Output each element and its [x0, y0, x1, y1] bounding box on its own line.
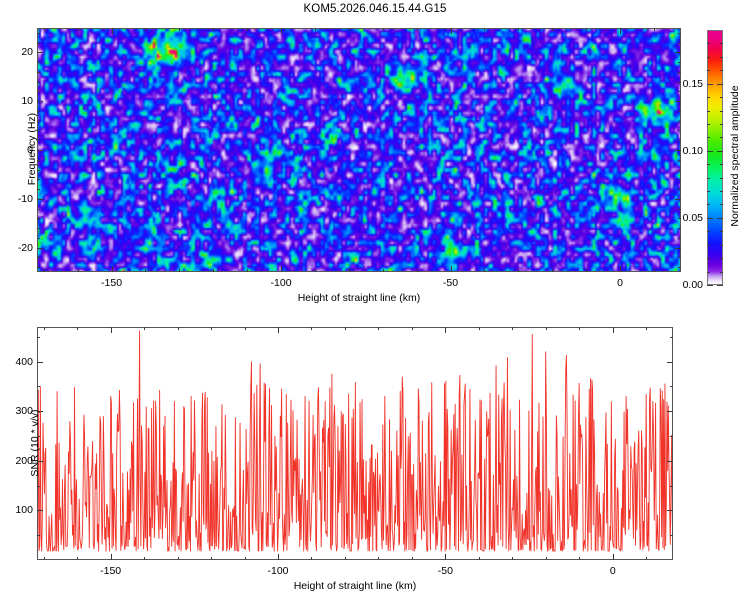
colorbar-tick — [707, 285, 713, 286]
colorbar-tick-minor — [707, 164, 710, 165]
x-tick-minor — [417, 269, 418, 272]
x-tick-minor-top — [315, 28, 316, 31]
y-tick-minor — [37, 43, 40, 44]
y-tick-minor-right — [678, 228, 681, 229]
colorbar-tick-minor-right — [720, 191, 723, 192]
x-tick-label: -50 — [443, 277, 458, 289]
x-tick-label: -100 — [271, 277, 292, 289]
y-tick-minor — [37, 91, 40, 92]
x-tick-major-top — [111, 327, 112, 333]
y-tick-minor-right — [670, 486, 673, 487]
colorbar-axis-title: Normalized spectral amplitude — [729, 71, 741, 241]
y-tick-minor-right — [678, 91, 681, 92]
x-tick-label: -150 — [100, 565, 121, 577]
y-tick-minor — [37, 257, 40, 258]
colorbar-tick-label: 0.05 — [671, 212, 703, 224]
x-tick-minor-top — [654, 28, 655, 31]
y-tick-major — [37, 510, 43, 511]
colorbar-tick-minor — [707, 70, 710, 71]
y-tick-label: 20 — [7, 46, 33, 58]
y-tick-minor — [37, 62, 40, 63]
x-tick-minor — [512, 557, 513, 560]
colorbar-tick-minor-right — [720, 258, 723, 259]
x-tick-minor — [213, 269, 214, 272]
x-tick-minor-top — [552, 28, 553, 31]
y-tick-label: 400 — [5, 356, 33, 368]
y-tick-minor-right — [678, 72, 681, 73]
x-tick-minor — [412, 557, 413, 560]
colorbar-tick-minor — [707, 272, 710, 273]
x-tick-major — [112, 266, 113, 272]
x-tick-minor — [378, 557, 379, 560]
colorbar-tick-minor — [707, 258, 710, 259]
colorbar-tick-minor-right — [720, 137, 723, 138]
snr-x-axis-title: Height of straight line (km) — [294, 580, 417, 592]
y-tick-minor-right — [670, 535, 673, 536]
x-tick-minor-top — [44, 28, 45, 31]
x-tick-minor-top — [586, 28, 587, 31]
colorbar-tick-minor-right — [720, 231, 723, 232]
x-tick-minor-top — [245, 327, 246, 330]
x-tick-minor — [586, 269, 587, 272]
colorbar-tick — [707, 84, 713, 85]
colorbar-tick-right — [717, 218, 723, 219]
y-tick-major-right — [667, 411, 673, 412]
x-tick-minor-top — [646, 327, 647, 330]
x-tick-major — [451, 266, 452, 272]
colorbar-tick — [707, 151, 713, 152]
x-tick-minor-top — [579, 327, 580, 330]
colorbar-tick-minor — [707, 43, 710, 44]
x-tick-minor — [77, 557, 78, 560]
x-tick-minor-top — [145, 28, 146, 31]
colorbar-tick-minor — [707, 178, 710, 179]
y-tick-major — [37, 248, 43, 249]
x-tick-minor-top — [383, 28, 384, 31]
colorbar-tick-minor — [707, 137, 710, 138]
x-tick-minor-top — [484, 28, 485, 31]
colorbar-tick-right — [717, 151, 723, 152]
x-tick-minor — [179, 269, 180, 272]
y-tick-minor — [37, 82, 40, 83]
x-tick-minor-top — [77, 327, 78, 330]
x-tick-minor — [349, 269, 350, 272]
x-tick-major — [111, 554, 112, 560]
y-tick-minor-right — [678, 209, 681, 210]
x-tick-major-top — [281, 28, 282, 34]
colorbar-tick-minor — [707, 124, 710, 125]
colorbar-tick-minor-right — [720, 70, 723, 71]
y-tick-minor-right — [678, 62, 681, 63]
y-tick-minor-right — [678, 111, 681, 112]
x-tick-minor — [552, 269, 553, 272]
x-tick-minor — [479, 557, 480, 560]
y-tick-minor-right — [670, 386, 673, 387]
x-tick-minor-top — [213, 28, 214, 31]
colorbar-tick-right — [717, 84, 723, 85]
x-tick-minor — [247, 269, 248, 272]
x-tick-minor-top — [211, 327, 212, 330]
y-tick-minor — [37, 33, 40, 34]
x-tick-minor — [546, 557, 547, 560]
x-tick-minor — [178, 557, 179, 560]
colorbar-tick-minor-right — [720, 272, 723, 273]
colorbar-tick-minor-right — [720, 245, 723, 246]
x-tick-label: 0 — [610, 565, 616, 577]
x-tick-minor — [315, 269, 316, 272]
x-tick-minor-top — [78, 28, 79, 31]
colorbar-tick-label: 0.00 — [671, 279, 703, 291]
colorbar-gradient — [707, 30, 723, 285]
y-tick-minor-right — [670, 436, 673, 437]
colorbar-tick-minor-right — [720, 111, 723, 112]
y-tick-major-right — [675, 52, 681, 53]
x-tick-minor-top — [512, 327, 513, 330]
y-tick-minor-right — [678, 130, 681, 131]
y-tick-major-right — [675, 248, 681, 249]
x-tick-minor — [654, 269, 655, 272]
y-tick-minor-right — [678, 189, 681, 190]
snr-panel[interactable] — [37, 327, 673, 560]
colorbar-tick-minor — [707, 191, 710, 192]
x-tick-minor-top — [178, 327, 179, 330]
x-tick-major — [445, 554, 446, 560]
x-tick-major-top — [445, 327, 446, 333]
x-tick-minor-top — [412, 327, 413, 330]
colorbar-tick-minor-right — [720, 164, 723, 165]
colorbar-tick-minor — [707, 231, 710, 232]
spectrogram-heatmap[interactable] — [37, 28, 681, 272]
x-tick-minor-top — [417, 28, 418, 31]
colorbar-tick-minor — [707, 57, 710, 58]
snr-path — [37, 331, 673, 551]
y-tick-minor-right — [678, 43, 681, 44]
x-tick-minor — [211, 557, 212, 560]
spectrogram-x-axis-title: Height of straight line (km) — [298, 292, 421, 304]
y-tick-minor-right — [678, 257, 681, 258]
x-tick-minor — [145, 269, 146, 272]
x-tick-major — [620, 266, 621, 272]
y-tick-minor-right — [678, 33, 681, 34]
x-tick-major-top — [451, 28, 452, 34]
colorbar-tick-minor-right — [720, 97, 723, 98]
x-tick-minor — [78, 269, 79, 272]
x-tick-minor-top — [179, 28, 180, 31]
x-tick-major-top — [112, 28, 113, 34]
x-tick-major — [281, 266, 282, 272]
x-tick-minor-top — [44, 327, 45, 330]
x-tick-label: -50 — [438, 565, 453, 577]
y-tick-major-right — [667, 510, 673, 511]
x-tick-minor-top — [349, 28, 350, 31]
x-tick-minor — [579, 557, 580, 560]
x-tick-minor-top — [345, 327, 346, 330]
colorbar-tick-minor — [707, 111, 710, 112]
x-tick-minor — [245, 557, 246, 560]
x-tick-minor — [383, 269, 384, 272]
x-tick-minor — [646, 557, 647, 560]
x-tick-label: -150 — [101, 277, 122, 289]
spectrogram-panel[interactable] — [37, 28, 681, 272]
y-tick-minor-right — [670, 337, 673, 338]
y-tick-minor-right — [678, 121, 681, 122]
y-tick-label: 100 — [5, 504, 33, 516]
x-tick-minor — [44, 557, 45, 560]
figure-canvas: KOM5.2026.046.15.44.G15 -150-100-500-20-… — [0, 0, 750, 600]
colorbar-tick-minor-right — [720, 204, 723, 205]
x-tick-minor — [44, 269, 45, 272]
spectrogram-canvas — [37, 28, 681, 272]
x-tick-major-top — [620, 28, 621, 34]
y-tick-minor — [37, 228, 40, 229]
colorbar-tick-label: 0.15 — [671, 78, 703, 90]
y-tick-major-right — [667, 362, 673, 363]
x-tick-major — [278, 554, 279, 560]
y-tick-minor-right — [678, 160, 681, 161]
colorbar-tick-minor-right — [720, 178, 723, 179]
x-tick-minor — [518, 269, 519, 272]
colorbar-tick — [707, 218, 713, 219]
y-tick-minor-right — [678, 238, 681, 239]
y-tick-minor — [37, 209, 40, 210]
snr-y-axis-title: SNR (10 * v/v) — [29, 388, 41, 498]
x-tick-label: 0 — [617, 277, 623, 289]
x-tick-major-top — [613, 327, 614, 333]
colorbar-tick-minor-right — [720, 124, 723, 125]
snr-path-svg — [37, 327, 673, 560]
colorbar-panel[interactable] — [707, 30, 723, 285]
x-tick-minor-top — [311, 327, 312, 330]
y-tick-major-right — [667, 461, 673, 462]
y-tick-minor — [37, 267, 40, 268]
y-tick-minor-right — [678, 267, 681, 268]
y-tick-minor — [37, 238, 40, 239]
y-tick-minor-right — [678, 140, 681, 141]
colorbar-tick-minor — [707, 204, 710, 205]
x-tick-minor — [311, 557, 312, 560]
colorbar-tick-minor — [707, 245, 710, 246]
x-tick-minor-top — [479, 327, 480, 330]
x-tick-major-top — [278, 327, 279, 333]
x-tick-minor-top — [518, 28, 519, 31]
page-title: KOM5.2026.046.15.44.G15 — [0, 3, 750, 15]
y-tick-major-right — [675, 199, 681, 200]
colorbar-tick-minor-right — [720, 43, 723, 44]
x-tick-minor-top — [378, 327, 379, 330]
x-tick-major — [613, 554, 614, 560]
y-tick-label: -20 — [7, 242, 33, 254]
x-tick-minor-top — [247, 28, 248, 31]
x-tick-label: -100 — [267, 565, 288, 577]
y-tick-major-right — [675, 101, 681, 102]
y-tick-major — [37, 52, 43, 53]
y-tick-minor — [37, 72, 40, 73]
x-tick-minor — [144, 557, 145, 560]
spectrogram-y-axis-title: Frequency (Hz) — [26, 99, 38, 199]
y-tick-minor — [37, 337, 40, 338]
y-tick-minor-right — [678, 170, 681, 171]
y-tick-minor — [37, 218, 40, 219]
colorbar-tick-minor-right — [720, 57, 723, 58]
colorbar-tick-label: 0.10 — [671, 145, 703, 157]
y-tick-minor-right — [678, 179, 681, 180]
colorbar-tick-minor — [707, 97, 710, 98]
x-tick-minor-top — [546, 327, 547, 330]
x-tick-minor-top — [144, 327, 145, 330]
x-tick-minor — [345, 557, 346, 560]
x-tick-minor — [484, 269, 485, 272]
colorbar-tick-right — [717, 285, 723, 286]
snr-line-trace[interactable] — [37, 327, 673, 560]
y-tick-minor — [37, 535, 40, 536]
y-tick-major — [37, 362, 43, 363]
